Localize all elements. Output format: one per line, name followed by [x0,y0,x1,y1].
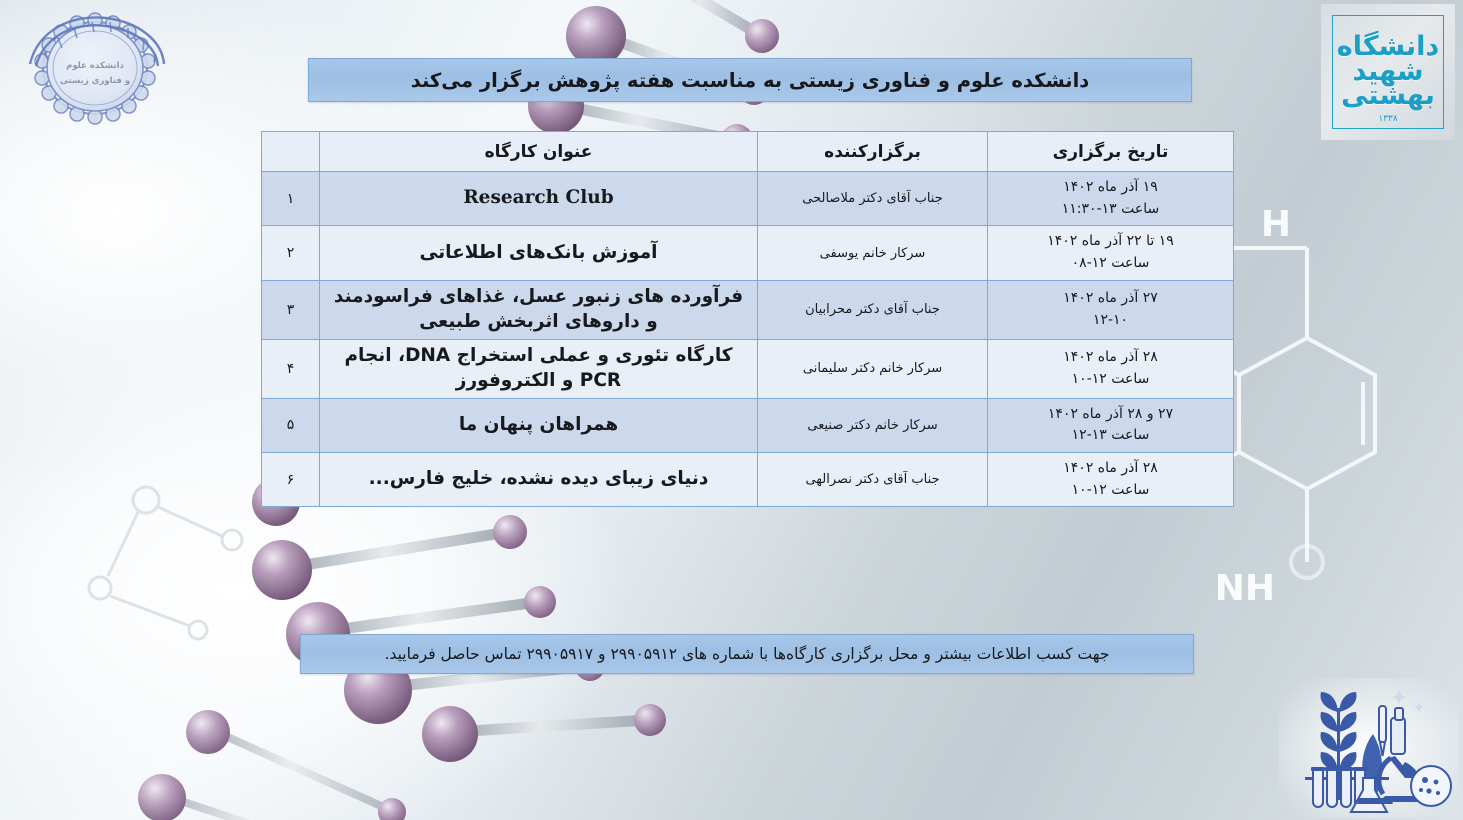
date-line-2: ساعت ۱۲-۱۰ [996,480,1225,502]
biotech-icon [1279,678,1459,818]
cell-presenter: سرکار خانم دکتر سلیمانی [758,339,988,398]
cell-row-index: ۵ [262,398,320,452]
column-header-presenter: برگزارکننده [758,132,988,172]
table-row: ۲۷ و ۲۸ آذر ماه ۱۴۰۲ساعت ۱۳-۱۲سرکار خانم… [262,398,1234,452]
cell-date: ۲۷ و ۲۸ آذر ماه ۱۴۰۲ساعت ۱۳-۱۲ [988,398,1234,452]
cell-workshop-title: فرآورده های زنبور عسل، غذاهای فراسودمند … [320,280,758,339]
cell-presenter: جناب آقای دکتر محرابیان [758,280,988,339]
faculty-seal-logo: دانشکده علوم و فناوری زیستی [14,6,176,134]
column-header-index [262,132,320,172]
column-header-title: عنوان کارگاه [320,132,758,172]
cell-date: ۲۷ آذر ماه ۱۴۰۲۱۲-۱۰ [988,280,1234,339]
cell-date: ۱۹ آذر ماه ۱۴۰۲ساعت ۱۳-۱۱:۳۰ [988,172,1234,226]
cell-row-index: ۴ [262,339,320,398]
cell-presenter: سرکار خانم دکتر صنیعی [758,398,988,452]
table-body: ۱۹ آذر ماه ۱۴۰۲ساعت ۱۳-۱۱:۳۰جناب آقای دک… [262,172,1234,507]
cell-date: ۲۸ آذر ماه ۱۴۰۲ساعت ۱۲-۱۰ [988,339,1234,398]
biotechnology-illustration-logo [1279,678,1459,818]
cell-presenter: جناب آقای دکتر نصرالهی [758,453,988,507]
header-banner-text: دانشکده علوم و فناوری زیستی به مناسبت هف… [411,69,1090,92]
table-row: ۱۹ آذر ماه ۱۴۰۲ساعت ۱۳-۱۱:۳۰جناب آقای دک… [262,172,1234,226]
date-line-2: ساعت ۱۲-۰۸ [996,253,1225,275]
date-line-2: ساعت ۱۳-۱۲ [996,425,1225,447]
cell-row-index: ۳ [262,280,320,339]
cell-row-index: ۲ [262,226,320,280]
table-header-row: تاریخ برگزاری برگزارکننده عنوان کارگاه [262,132,1234,172]
footer-banner-text: جهت کسب اطلاعات بیشتر و محل برگزاری کارگ… [385,645,1110,663]
date-line-1: ۱۹ آذر ماه ۱۴۰۲ [1063,179,1157,195]
cell-workshop-title: Research Club [320,172,758,226]
cell-presenter: جناب آقای دکتر ملاصالحی [758,172,988,226]
chem-label-h: H [1261,204,1291,245]
date-line-2: ساعت ۱۲-۱۰ [996,369,1225,391]
cell-workshop-title: همراهان پنهان ما [320,398,758,452]
cell-workshop-title: آموزش بانک‌های اطلاعاتی [320,226,758,280]
date-line-1: ۲۷ و ۲۸ آذر ماه ۱۴۰۲ [1048,406,1173,422]
logo-founding-year: ۱۳۳۸ [1333,114,1443,124]
cell-date: ۱۹ تا ۲۲ آذر ماه ۱۴۰۲ساعت ۱۲-۰۸ [988,226,1234,280]
cell-workshop-title: کارگاه تئوری و عملی استخراج DNA، انجام P… [320,339,758,398]
date-line-1: ۲۸ آذر ماه ۱۴۰۲ [1063,349,1157,365]
chem-label-nh: NH [1215,568,1275,609]
date-line-2: ۱۲-۱۰ [996,310,1225,332]
column-header-date: تاریخ برگزاری [988,132,1234,172]
header-banner: دانشکده علوم و فناوری زیستی به مناسبت هف… [308,58,1192,102]
logo-calligraphy-line3: بهشتی [1337,84,1440,109]
date-line-1: ۲۸ آذر ماه ۱۴۰۲ [1063,460,1157,476]
shahid-beheshti-university-logo: دانشگاه شهید بهشتی ۱۳۳۸ [1321,4,1455,140]
date-line-1: ۲۷ آذر ماه ۱۴۰۲ [1063,290,1157,306]
cell-row-index: ۶ [262,453,320,507]
table-row: ۱۹ تا ۲۲ آذر ماه ۱۴۰۲ساعت ۱۲-۰۸سرکار خان… [262,226,1234,280]
logo-calligraphy: دانشگاه شهید بهشتی [1337,35,1440,109]
date-line-1: ۱۹ تا ۲۲ آذر ماه ۱۴۰۲ [1047,233,1174,249]
faculty-seal-line1: دانشکده علوم [66,61,124,71]
table-row: ۲۸ آذر ماه ۱۴۰۲ساعت ۱۲-۱۰جناب آقای دکتر … [262,453,1234,507]
footer-contact-banner: جهت کسب اطلاعات بیشتر و محل برگزاری کارگ… [300,634,1194,674]
workshops-table: تاریخ برگزاری برگزارکننده عنوان کارگاه ۱… [261,131,1234,507]
table-row: ۲۷ آذر ماه ۱۴۰۲۱۲-۱۰جناب آقای دکتر محراب… [262,280,1234,339]
date-line-2: ساعت ۱۳-۱۱:۳۰ [996,199,1225,221]
logo-frame: دانشگاه شهید بهشتی ۱۳۳۸ [1332,15,1444,129]
cell-workshop-title: دنیای زیبای دیده نشده، خلیج فارس... [320,453,758,507]
table-row: ۲۸ آذر ماه ۱۴۰۲ساعت ۱۲-۱۰سرکار خانم دکتر… [262,339,1234,398]
table-header: تاریخ برگزاری برگزارکننده عنوان کارگاه [262,132,1234,172]
workshops-table-container: تاریخ برگزاری برگزارکننده عنوان کارگاه ۱… [262,131,1234,507]
cell-presenter: سرکار خانم یوسفی [758,226,988,280]
cell-date: ۲۸ آذر ماه ۱۴۰۲ساعت ۱۲-۱۰ [988,453,1234,507]
poster-canvas: CH3 H NH [0,0,1463,820]
faculty-seal-line2: و فناوری زیستی [60,76,130,86]
cell-row-index: ۱ [262,172,320,226]
